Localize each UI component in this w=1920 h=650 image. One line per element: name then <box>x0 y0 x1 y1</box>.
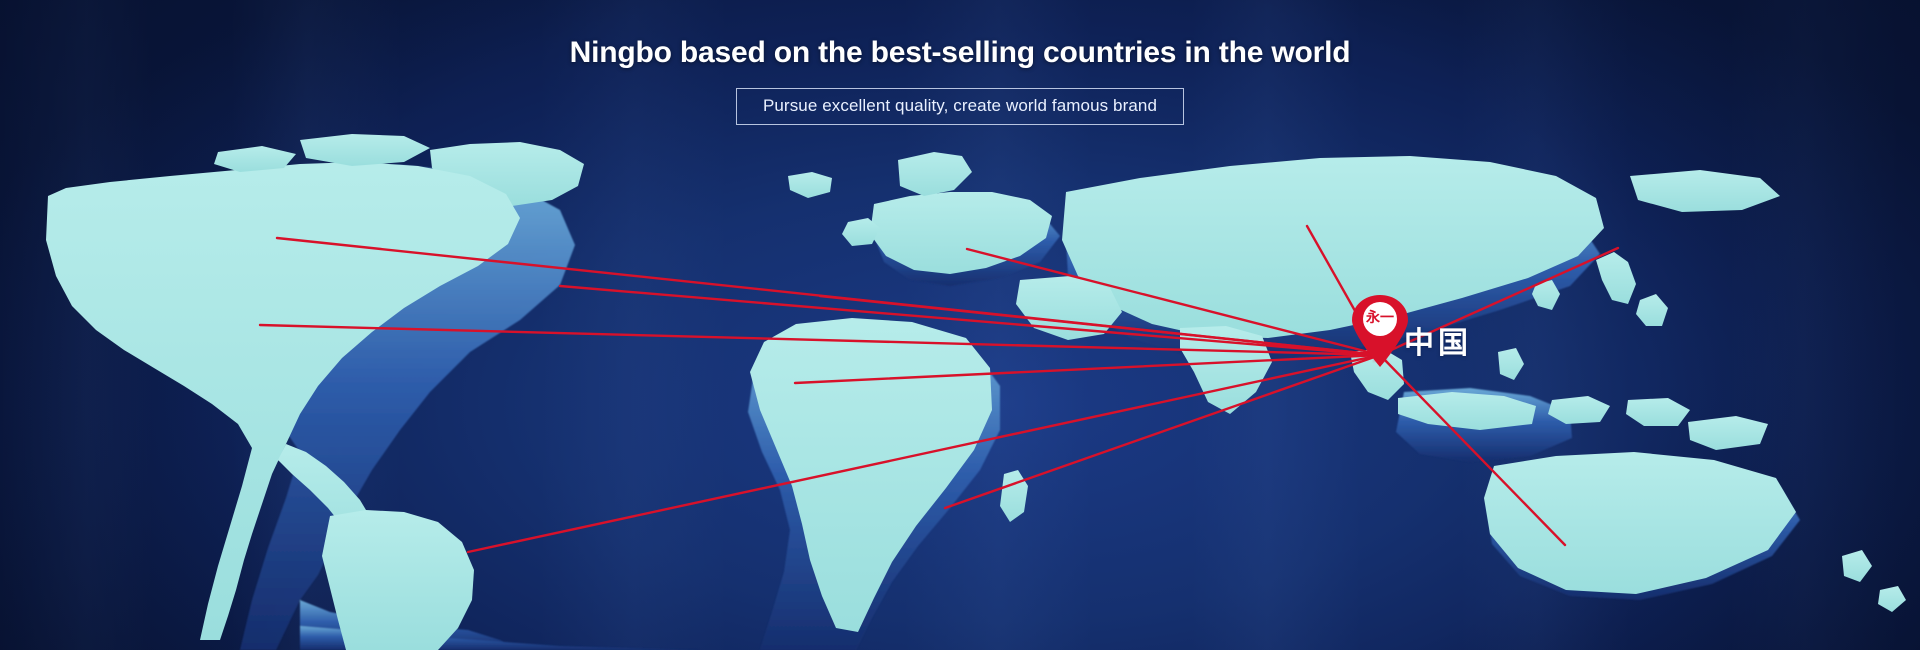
subtitle-box: Pursue excellent quality, create world f… <box>736 88 1184 125</box>
world-map-banner: 中国 永一 Ningbo based on the best-selling c… <box>0 0 1920 650</box>
page-subtitle: Pursue excellent quality, create world f… <box>763 96 1157 115</box>
route-south-africa <box>945 355 1380 508</box>
banner-header: Ningbo based on the best-selling countri… <box>0 0 1920 125</box>
country-label-china: 中国 <box>1404 318 1472 362</box>
page-title: Ningbo based on the best-selling countri… <box>0 0 1920 70</box>
map-pin-icon[interactable]: 永一 <box>1348 294 1412 368</box>
